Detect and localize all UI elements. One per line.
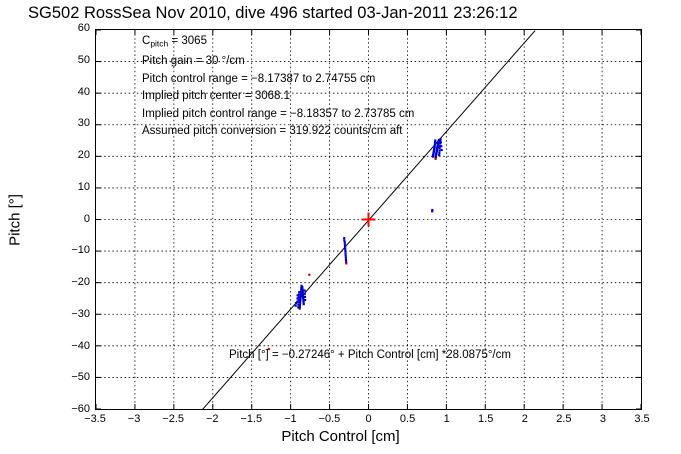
data-point	[344, 248, 346, 250]
x-tick-label: −2	[190, 414, 234, 425]
data-point	[343, 239, 345, 241]
data-point	[304, 296, 306, 298]
data-point	[302, 292, 304, 294]
page-title: SG502 RossSea Nov 2010, dive 496 started…	[28, 2, 518, 24]
y-tick-label: 0	[60, 214, 90, 225]
data-point	[301, 286, 303, 288]
data-point	[304, 293, 306, 295]
data-point	[302, 294, 304, 296]
y-tick-label: 20	[60, 150, 90, 161]
c-pitch-subscript: pitch	[150, 38, 168, 48]
annotation-assumed-pitch-conversion: Assumed pitch conversion = 319.922 count…	[142, 123, 414, 141]
data-point	[298, 291, 300, 293]
x-axis-label: Pitch Control [cm]	[0, 428, 681, 445]
data-point	[431, 210, 433, 212]
data-point	[438, 154, 440, 156]
x-tick-label: 1.5	[464, 414, 508, 425]
data-point	[304, 299, 306, 301]
figure-canvas: SG502 RossSea Nov 2010, dive 496 started…	[0, 0, 681, 454]
data-point	[302, 301, 304, 303]
data-point	[302, 290, 304, 292]
x-tick-label: −1	[268, 414, 312, 425]
data-point	[345, 257, 347, 259]
x-tick-label: −3.5	[73, 414, 117, 425]
data-point	[440, 141, 442, 143]
data-point	[441, 149, 443, 151]
data-point	[345, 259, 347, 261]
fit-equation-annotation: Pitch [°] = −0.27246° + Pitch Control [c…	[229, 349, 511, 361]
x-tick-label: −2.5	[151, 414, 195, 425]
data-point	[296, 297, 298, 299]
y-tick-label: 10	[60, 182, 90, 193]
data-point	[304, 289, 306, 291]
x-tick-label: 0	[347, 414, 391, 425]
data-points	[268, 138, 443, 350]
data-point	[343, 237, 345, 239]
data-point	[344, 241, 346, 243]
annotation-implied-pitch-control-range: Implied pitch control range = −8.18357 t…	[142, 106, 414, 124]
x-tick-label: −0.5	[307, 414, 351, 425]
data-point	[344, 252, 346, 254]
x-tick-label: −3	[112, 414, 156, 425]
data-point	[301, 288, 303, 290]
data-point	[435, 158, 437, 160]
annotation-pitch-control-range: Pitch control range = −8.17387 to 2.7475…	[142, 71, 414, 89]
y-tick-label: 60	[60, 23, 90, 34]
y-tick-label: −30	[60, 309, 90, 320]
y-tick-label: −40	[60, 341, 90, 352]
data-point	[297, 304, 299, 306]
x-tick-label: 3	[581, 414, 625, 425]
data-point	[434, 142, 436, 144]
data-point	[345, 254, 347, 256]
y-tick-label: 40	[60, 87, 90, 98]
y-tick-label: −10	[60, 245, 90, 256]
annotation-text-block: Cpitch = 3065 Pitch gain = 30 °/cm Pitch…	[142, 33, 414, 141]
data-point	[303, 303, 305, 305]
data-point	[439, 138, 441, 140]
y-tick-label: −50	[60, 372, 90, 383]
data-point	[344, 246, 346, 248]
data-point	[438, 152, 440, 154]
y-axis-label: Pitch [°]	[7, 194, 24, 246]
plot-axes: Cpitch = 3065 Pitch gain = 30 °/cm Pitch…	[95, 29, 642, 410]
y-tick-label: −20	[60, 277, 90, 288]
data-point	[297, 306, 299, 308]
x-tick-label: 3.5	[620, 414, 664, 425]
y-tick-label: 50	[60, 55, 90, 66]
data-point	[344, 250, 346, 252]
y-tick-label: 30	[60, 118, 90, 129]
data-point	[344, 243, 346, 245]
data-point	[297, 294, 299, 296]
data-point	[308, 274, 310, 276]
c-pitch-value: = 3065	[168, 35, 207, 47]
data-point	[345, 262, 347, 264]
data-point	[440, 145, 442, 147]
annotation-implied-pitch-center: Implied pitch center = 3068.1	[142, 88, 414, 106]
data-point	[302, 295, 304, 297]
x-tick-label: 1	[425, 414, 469, 425]
x-tick-label: 0.5	[386, 414, 430, 425]
data-point	[432, 156, 434, 158]
data-point	[295, 305, 297, 307]
x-tick-label: 2.5	[542, 414, 586, 425]
data-point	[438, 150, 440, 152]
y-axis-label-holder: Pitch [°]	[5, 29, 25, 410]
x-tick-label: −1.5	[229, 414, 273, 425]
annotation-pitch-gain: Pitch gain = 30 °/cm	[142, 53, 414, 71]
data-point	[295, 302, 297, 304]
annotation-c-pitch: Cpitch = 3065	[142, 33, 414, 53]
data-point	[439, 147, 441, 149]
x-tick-label: 2	[503, 414, 547, 425]
